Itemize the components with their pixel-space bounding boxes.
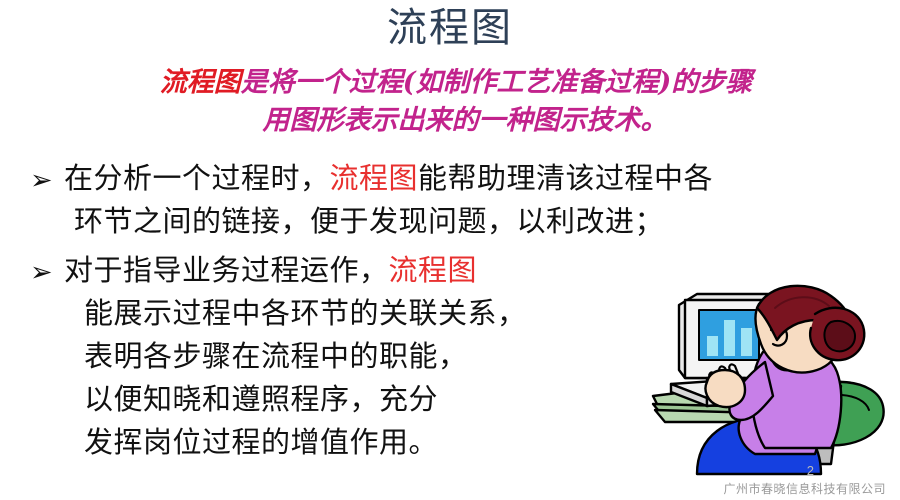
woman-at-computer-illustration [645, 278, 900, 478]
intro-keyword: 流程图 [160, 67, 241, 98]
bullet-arrow-icon: ➢ [30, 159, 60, 202]
intro-line-2: 用图形表示出来的一种图示技术。 [46, 102, 866, 140]
bullet-1-line-2: 环节之间的链接，便于发现问题，以利改进； [64, 201, 888, 244]
bullet-1-line-1-pre: 在分析一个过程时， [64, 163, 330, 195]
intro-line-1: 流程图是将一个过程(如制作工艺准备过程)的步骤 [46, 64, 866, 102]
bullet-2-line-1-pre: 对于指导业务过程运作， [64, 255, 389, 287]
bullet-arrow-icon: ➢ [30, 251, 60, 294]
page-number: 2 [807, 463, 814, 478]
intro-line-1-rest: 是将一个过程(如制作工艺准备过程)的步骤 [241, 67, 753, 98]
list-item: ➢ 在分析一个过程时，流程图能帮助理清该过程中各 环节之间的链接，便于发现问题，… [28, 158, 888, 244]
bullet-1-line-1: 在分析一个过程时，流程图能帮助理清该过程中各 [64, 158, 888, 201]
bullet-1-line-1-post: 能帮助理清该过程中各 [418, 163, 713, 195]
bullet-2-keyword: 流程图 [389, 255, 478, 287]
footer-company-name: 广州市春晓信息科技有限公司 [723, 480, 886, 497]
bullet-1-keyword: 流程图 [330, 163, 419, 195]
page-title: 流程图 [0, 2, 900, 54]
slide-canvas: 流程图 流程图是将一个过程(如制作工艺准备过程)的步骤 用图形表示出来的一种图示… [0, 0, 900, 500]
intro-paragraph: 流程图是将一个过程(如制作工艺准备过程)的步骤 用图形表示出来的一种图示技术。 [46, 64, 866, 140]
